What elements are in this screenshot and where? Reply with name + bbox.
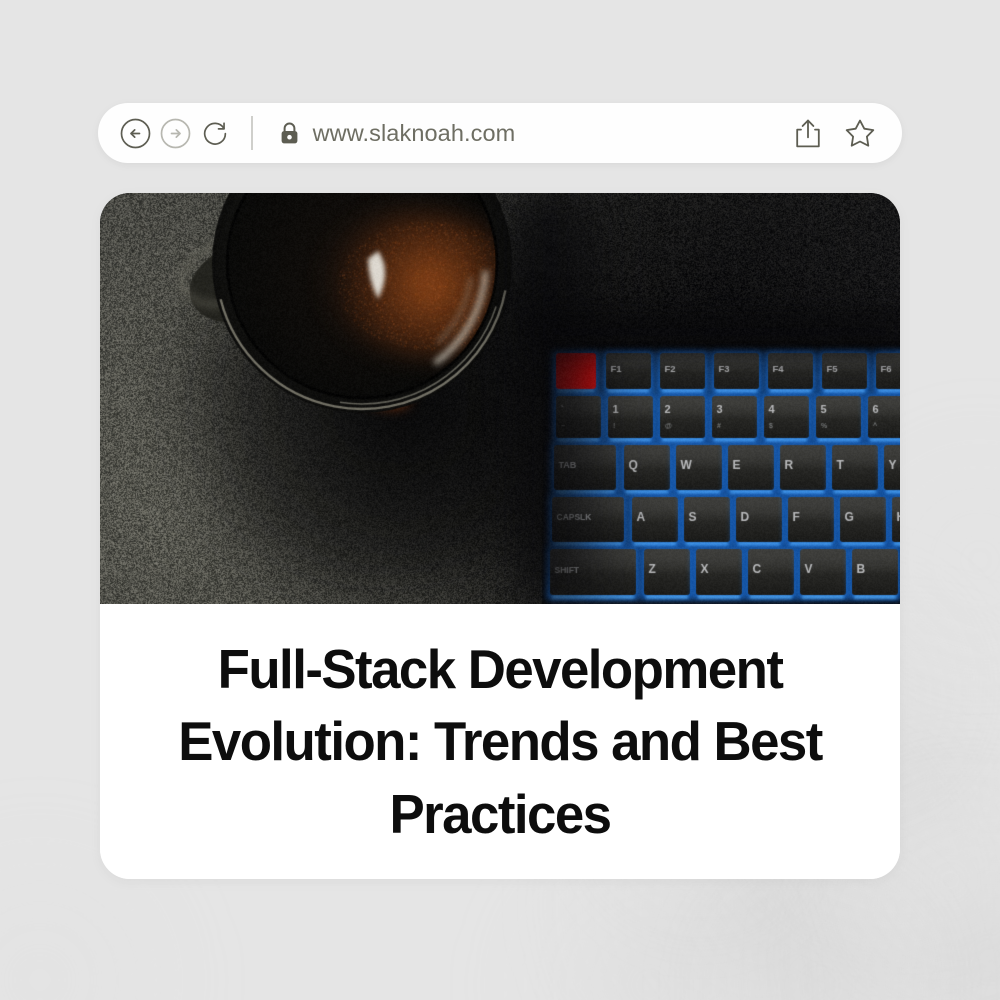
browser-toolbar: www.slaknoah.com (98, 103, 902, 163)
hero-image (100, 193, 900, 604)
hero-photo-canvas (100, 193, 900, 604)
reload-icon (200, 117, 231, 150)
forward-arrow-icon (160, 118, 191, 149)
url-text: www.slaknoah.com (313, 120, 516, 147)
page-title: Full-Stack Development Evolution: Trends… (116, 633, 884, 851)
lock-icon (279, 121, 300, 146)
navigation-buttons (120, 118, 231, 149)
toolbar-actions (794, 118, 876, 149)
reload-button[interactable] (200, 118, 231, 149)
star-icon (844, 118, 876, 149)
share-icon (794, 118, 822, 149)
back-arrow-icon (120, 118, 151, 149)
article-card[interactable]: Full-Stack Development Evolution: Trends… (100, 193, 900, 879)
bookmark-button[interactable] (844, 118, 876, 149)
toolbar-divider (251, 116, 253, 150)
card-body: Full-Stack Development Evolution: Trends… (100, 604, 900, 879)
back-button[interactable] (120, 118, 151, 149)
share-button[interactable] (794, 118, 822, 149)
address-bar[interactable]: www.slaknoah.com (279, 120, 516, 147)
forward-button[interactable] (160, 118, 191, 149)
